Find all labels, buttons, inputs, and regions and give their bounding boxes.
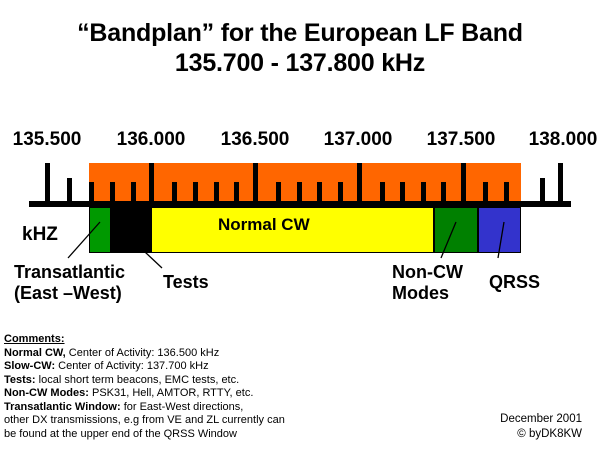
title-line-1: “Bandplan” for the European LF Band <box>0 18 600 48</box>
comment-row: Non-CW Modes: PSK31, Hell, AMTOR, RTTY, … <box>4 387 424 401</box>
callout-line-1: Non-CW <box>392 262 463 283</box>
scale-tick-minor <box>338 182 343 201</box>
comment-row-text: Center of Activity: 136.500 kHz <box>66 347 219 359</box>
scale-tick-minor <box>172 182 177 201</box>
callout-line-1: Transatlantic <box>14 262 125 283</box>
signature-credit: © byDK8KW <box>500 427 582 442</box>
scale-tick-minor <box>131 182 136 201</box>
comment-row: be found at the upper end of the QRSS Wi… <box>4 428 424 442</box>
comment-row-text: other DX transmissions, e.g from VE and … <box>4 414 285 426</box>
callout-line-2: Modes <box>392 283 463 304</box>
comments-block: Comments: Normal CW, Center of Activity:… <box>4 333 424 441</box>
band-transatlantic[interactable] <box>89 207 111 253</box>
band-qrss[interactable] <box>478 207 521 253</box>
scale-tick-minor <box>214 182 219 201</box>
comment-row-text: local short term beacons, EMC tests, etc… <box>36 374 240 386</box>
scale-tick-minor <box>441 182 446 201</box>
comment-row-text: Center of Activity: 137.700 kHz <box>55 360 208 372</box>
band-tests[interactable] <box>111 207 151 253</box>
band-non-cw-modes[interactable] <box>434 207 478 253</box>
scale-tick-minor <box>89 182 94 201</box>
callout-non-cw-modes: Non-CWModes <box>392 262 463 304</box>
comment-row-lead: Normal CW, <box>4 347 66 359</box>
scale-tick-minor <box>483 182 488 201</box>
scale-tick-minor <box>110 182 115 201</box>
callout-tests: Tests <box>163 272 209 293</box>
comments-heading: Comments: <box>4 333 424 347</box>
callout-line-1: Tests <box>163 272 209 293</box>
scale-tick-outer-short <box>67 178 72 201</box>
scale-tick-minor <box>234 182 239 201</box>
scale-tick-label: 137.000 <box>324 128 393 151</box>
title-line-2: 135.700 - 137.800 kHz <box>0 48 600 78</box>
band-label-normal-cw: Normal CW <box>218 215 310 235</box>
bandplan-diagram: Normal CW <box>0 150 600 260</box>
scale-segment-block <box>89 163 149 201</box>
scale-tick-minor <box>380 182 385 201</box>
comment-row-text: PSK31, Hell, AMTOR, RTTY, etc. <box>89 387 253 399</box>
comment-row-lead: Tests: <box>4 374 36 386</box>
callout-line-1: QRSS <box>489 272 540 293</box>
scale-tick-label: 136.000 <box>117 128 186 151</box>
scale-segment-block <box>463 163 521 201</box>
signature-date: December 2001 <box>500 412 582 427</box>
scale-tick-minor <box>317 182 322 201</box>
callout-transatlantic: Transatlantic(East –West) <box>14 262 125 304</box>
comment-row: Normal CW, Center of Activity: 136.500 k… <box>4 347 424 361</box>
scale-tick-label: 135.500 <box>13 128 82 151</box>
scale-tick-minor <box>276 182 281 201</box>
scale-tick-minor <box>504 182 509 201</box>
scale-tick-label: 137.500 <box>427 128 496 151</box>
khz-unit-label: kHZ <box>22 224 58 246</box>
comment-row-text: for East-West directions, <box>121 401 244 413</box>
comment-row: Transatlantic Window: for East-West dire… <box>4 401 424 415</box>
comment-row-lead: Non-CW Modes: <box>4 387 89 399</box>
scale-tick-major <box>461 163 466 201</box>
scale-tick-outer-tall <box>45 163 50 201</box>
scale-tick-minor <box>421 182 426 201</box>
signature-block: December 2001 © byDK8KW <box>500 412 582 442</box>
comment-row-text: be found at the upper end of the QRSS Wi… <box>4 428 237 440</box>
comment-row: Slow-CW: Center of Activity: 137.700 kHz <box>4 360 424 374</box>
scale-tick-label: 136.500 <box>221 128 290 151</box>
scale-tick-minor <box>193 182 198 201</box>
callout-line-2: (East –West) <box>14 283 125 304</box>
comment-row: Tests: local short term beacons, EMC tes… <box>4 374 424 388</box>
comment-row-lead: Transatlantic Window: <box>4 401 121 413</box>
comments-rows: Normal CW, Center of Activity: 136.500 k… <box>4 347 424 442</box>
scale-tick-major <box>149 163 154 201</box>
comment-row-lead: Slow-CW: <box>4 360 55 372</box>
scale-tick-minor <box>297 182 302 201</box>
scale-tick-outer-tall <box>558 163 563 201</box>
page-title: “Bandplan” for the European LF Band 135.… <box>0 18 600 78</box>
scale-tick-major <box>357 163 362 201</box>
callout-qrss: QRSS <box>489 272 540 293</box>
scale-tick-label: 138.000 <box>529 128 598 151</box>
comment-row: other DX transmissions, e.g from VE and … <box>4 414 424 428</box>
scale-tick-major <box>253 163 258 201</box>
scale-tick-minor <box>400 182 405 201</box>
scale-tick-outer-short <box>540 178 545 201</box>
